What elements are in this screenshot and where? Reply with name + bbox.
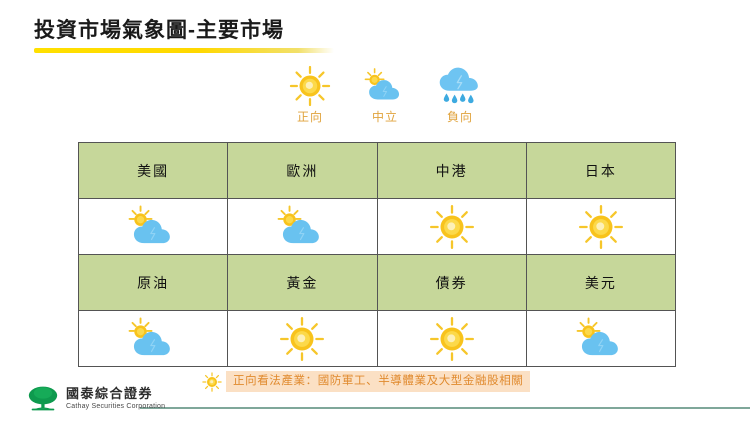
legend-label-negative: 負向 <box>447 109 473 125</box>
legend-item-neutral: 中立 <box>356 64 414 125</box>
cathay-tree-logo-icon <box>26 384 60 414</box>
sun-icon <box>527 200 675 253</box>
company-logo: 國泰綜合證券 Cathay Securities Corporation <box>26 384 165 414</box>
page-title: 投資市場氣象圖-主要市場 <box>34 18 534 44</box>
table-cell-outlook-europe <box>228 199 377 255</box>
table-row: 美國 歐洲 中港 日本 <box>79 143 676 199</box>
sun-behind-cloud-icon <box>79 312 227 365</box>
table-cell-market-us: 美國 <box>79 143 228 199</box>
table-cell-outlook-bonds <box>377 311 526 367</box>
title-underline-bar <box>34 48 334 53</box>
title-block: 投資市場氣象圖-主要市場 <box>34 18 534 53</box>
sun-behind-cloud-icon <box>363 64 407 108</box>
table-cell-outlook-gold <box>228 311 377 367</box>
table-cell-outlook-crude-oil <box>79 311 228 367</box>
table-cell-asset-crude-oil: 原油 <box>79 255 228 311</box>
footnote-text: 正向看法產業：國防軍工、半導體業及大型金融股相關 <box>226 371 530 392</box>
table-cell-market-japan: 日本 <box>526 143 675 199</box>
sun-behind-cloud-icon <box>527 312 675 365</box>
legend: 正向 中立 <box>281 64 489 125</box>
table-cell-market-europe: 歐洲 <box>228 143 377 199</box>
table-cell-outlook-usd <box>526 311 675 367</box>
footnote: 正向看法產業：國防軍工、半導體業及大型金融股相關 <box>202 371 530 392</box>
sun-icon <box>378 312 526 365</box>
sun-icon <box>289 64 331 108</box>
table-cell-outlook-us <box>79 199 228 255</box>
table-row <box>79 311 676 367</box>
footer-divider <box>140 407 750 409</box>
table-cell-asset-gold: 黃金 <box>228 255 377 311</box>
table-cell-asset-bonds: 債券 <box>377 255 526 311</box>
table-row: 原油 黃金 債券 美元 <box>79 255 676 311</box>
table-cell-outlook-japan <box>526 199 675 255</box>
sun-behind-cloud-icon <box>79 200 227 253</box>
table-cell-asset-usd: 美元 <box>526 255 675 311</box>
company-name-zh: 國泰綜合證券 <box>66 386 165 401</box>
sun-icon <box>202 372 222 392</box>
legend-item-negative: 負向 <box>431 64 489 125</box>
sun-icon <box>378 200 526 253</box>
legend-label-neutral: 中立 <box>372 109 398 125</box>
rain-cloud-icon <box>437 64 483 108</box>
company-name-en: Cathay Securities Corporation <box>66 402 165 412</box>
sun-icon <box>228 312 376 365</box>
table-cell-market-china-hk: 中港 <box>377 143 526 199</box>
legend-label-positive: 正向 <box>297 109 323 125</box>
table-row <box>79 199 676 255</box>
table-cell-outlook-china-hk <box>377 199 526 255</box>
market-weather-table: 美國 歐洲 中港 日本 <box>78 142 676 367</box>
logo-text-block: 國泰綜合證券 Cathay Securities Corporation <box>66 386 165 412</box>
sun-behind-cloud-icon <box>228 200 376 253</box>
legend-item-positive: 正向 <box>281 64 339 125</box>
